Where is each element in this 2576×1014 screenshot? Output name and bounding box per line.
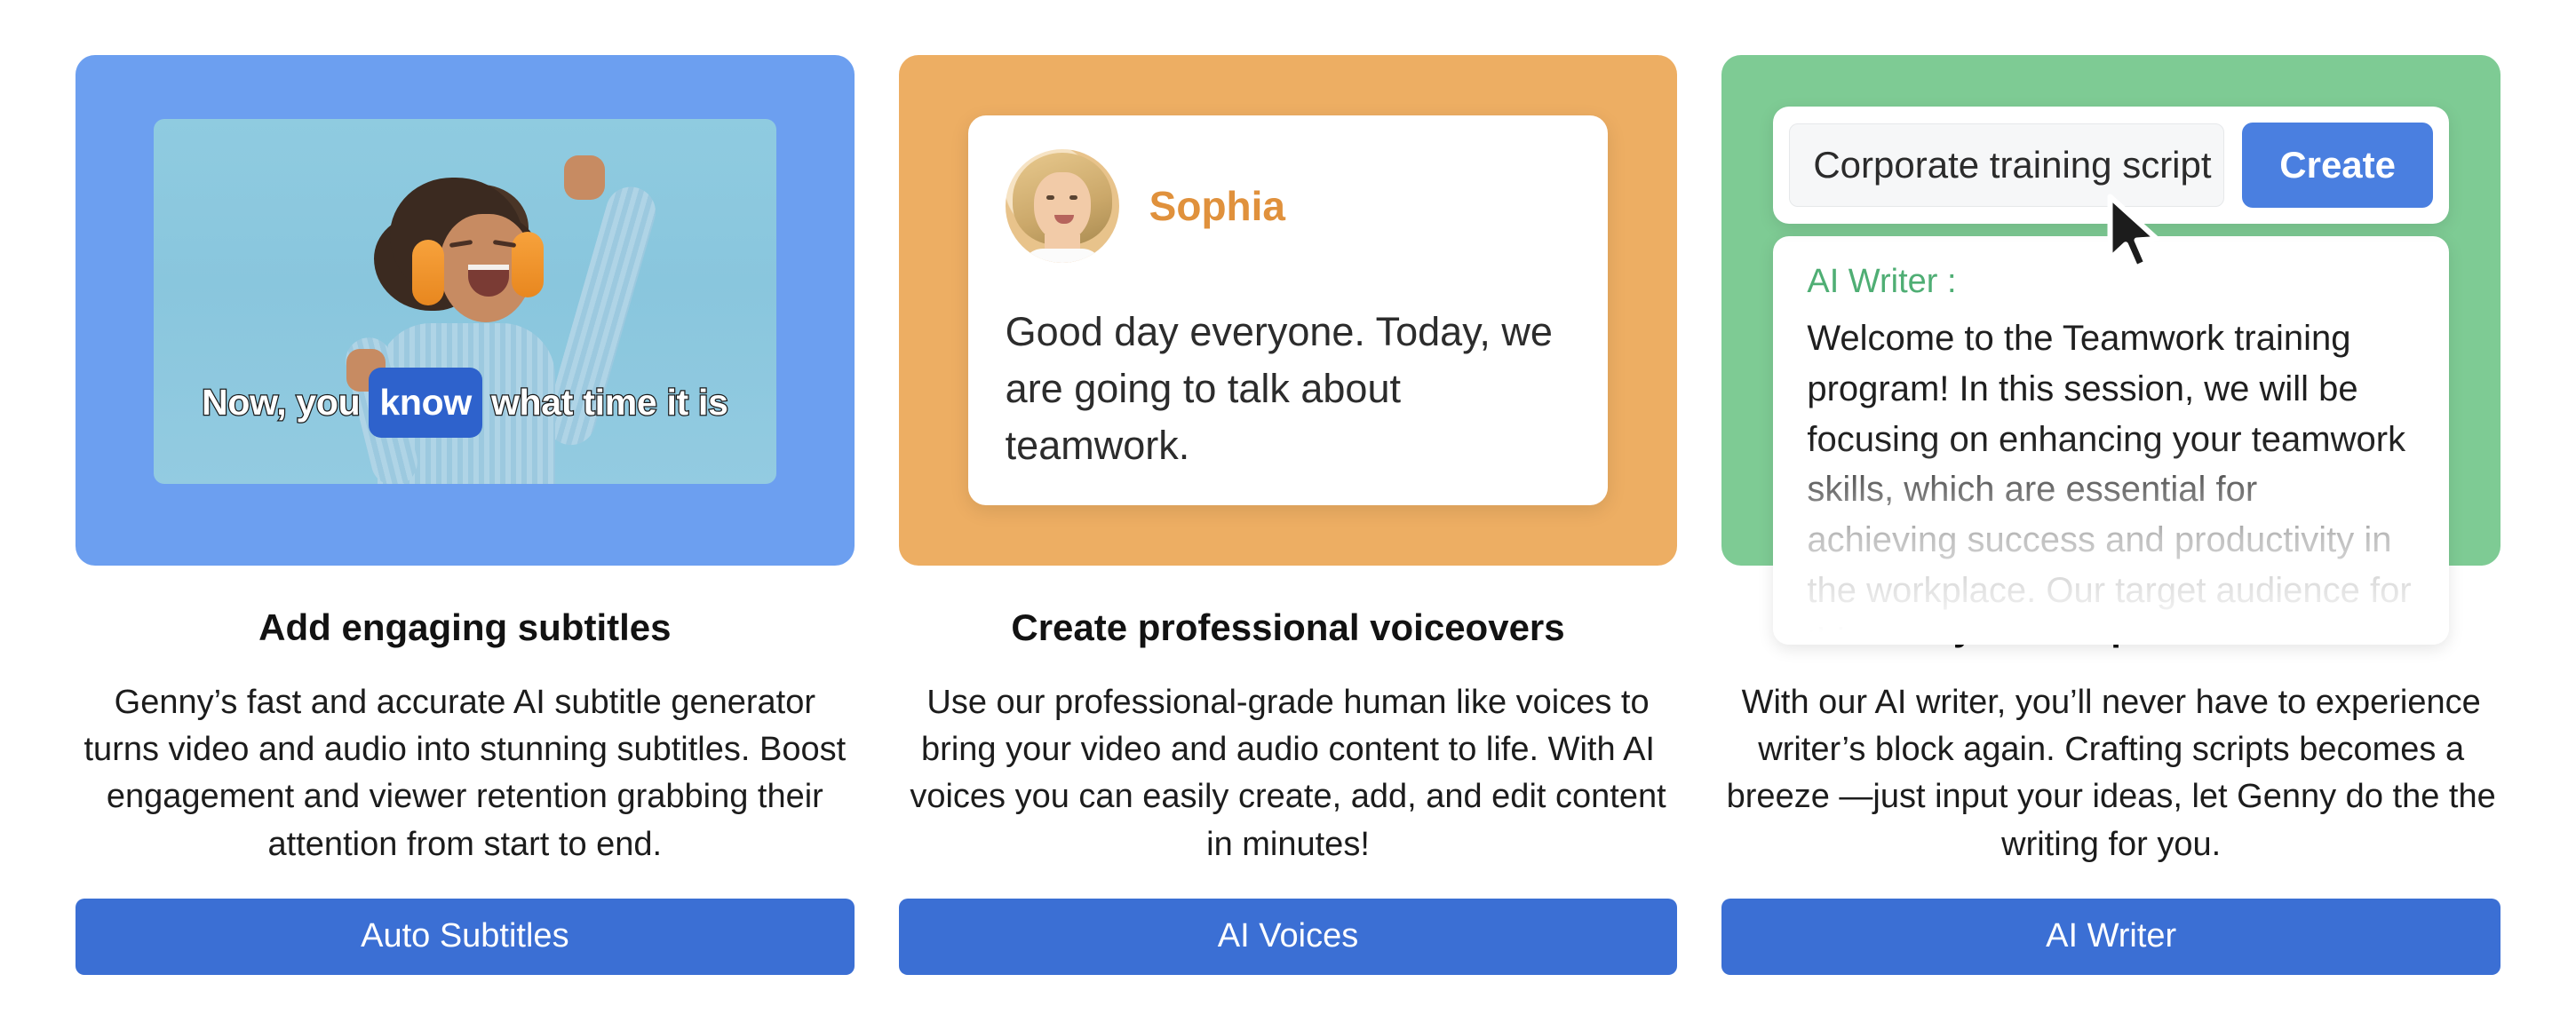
ai-writer-preview: Corporate training script Create AI Writ… [1721,55,2500,566]
avatar-face [1034,172,1091,242]
feature-card-voiceovers: Sophia Good day everyone. Today, we are … [899,55,1678,1014]
speaker-name: Sophia [1149,182,1285,230]
card-description: Genny’s fast and accurate AI subtitle ge… [76,679,855,868]
spacer [1721,868,2500,899]
headphone-right-icon [512,232,544,297]
speaker-row: Sophia [1006,149,1571,263]
raised-fist [564,155,605,200]
prompt-input[interactable]: Corporate training script [1789,123,2224,207]
feature-card-ai-writer: Corporate training script Create AI Writ… [1721,55,2500,1014]
subtitle-highlighted-word: know [369,368,482,438]
spacer [899,868,1678,899]
auto-subtitles-button[interactable]: Auto Subtitles [76,899,855,975]
voice-quote-card: Sophia Good day everyone. Today, we are … [968,115,1609,505]
ai-voices-button[interactable]: AI Voices [899,899,1678,975]
avatar-eye-right [1069,195,1077,200]
ai-writer-output-label: AI Writer : [1807,263,2415,301]
subtitle-video-preview: Now, you know what time it is [76,55,855,566]
card-description: With our AI writer, you’ll never have to… [1721,679,2500,868]
ai-writer-button[interactable]: AI Writer [1721,899,2500,975]
feature-card-subtitles: Now, you know what time it is Add engagi… [76,55,855,1014]
ai-writer-output: AI Writer : Welcome to the Teamwork trai… [1773,236,2449,645]
headphone-left-icon [412,240,444,305]
card-title: Create professional voiceovers [899,606,1678,649]
voiceover-preview: Sophia Good day everyone. Today, we are … [899,55,1678,566]
card-title: Add engaging subtitles [76,606,855,649]
ai-writer-output-text: Welcome to the Teamwork training program… [1807,313,2415,645]
create-button[interactable]: Create [2242,123,2433,208]
feature-card-row: Now, you know what time it is Add engagi… [0,0,2576,1014]
video-frame: Now, you know what time it is [154,119,776,484]
prompt-row: Corporate training script Create [1773,107,2449,224]
subtitle-overlay: Now, you know what time it is [154,368,776,438]
card-body: Create professional voiceovers Use our p… [899,566,1678,1014]
spacer [76,868,855,899]
voice-script-text: Good day everyone. Today, we are going t… [1006,304,1571,474]
card-description: Use our professional-grade human like vo… [899,679,1678,868]
subtitle-text-before: Now, you [196,382,365,424]
avatar [1006,149,1119,263]
ai-writer-panel: Corporate training script Create AI Writ… [1773,107,2449,592]
avatar-eye-left [1046,195,1054,200]
card-body: Add engaging subtitles Genny’s fast and … [76,566,855,1014]
subtitle-text-after: what time it is [486,382,734,424]
avatar-shirt [1022,249,1103,263]
